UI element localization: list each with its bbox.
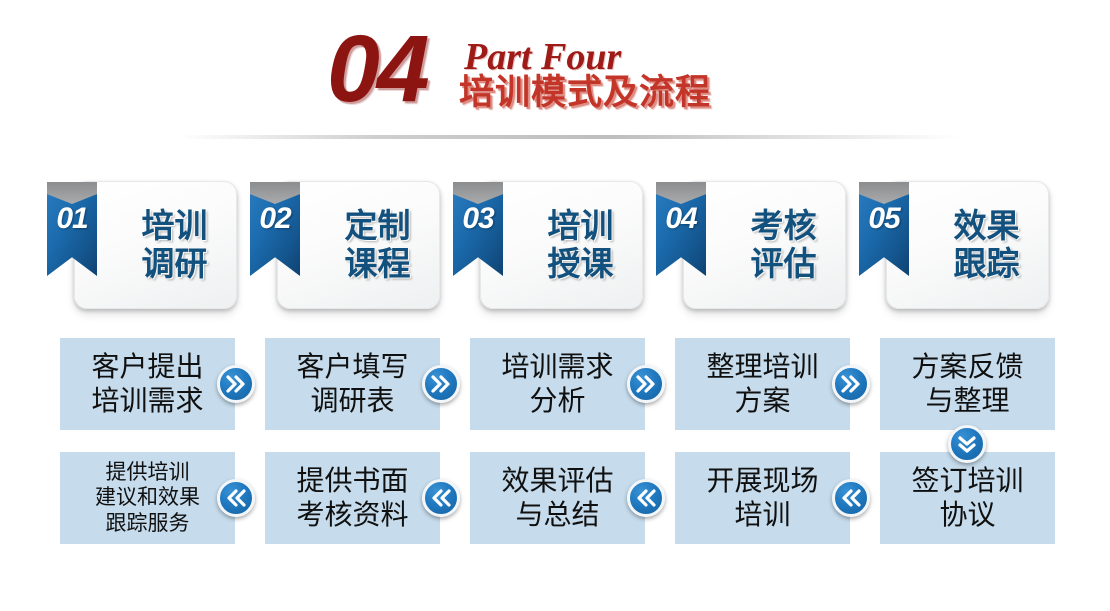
flow-box-bottom-5-label: 签订培训 协议 — [907, 464, 1027, 531]
step-title-02: 定制 课程 — [324, 207, 431, 283]
step-title-04: 考核 评估 — [730, 207, 837, 283]
flow-box-top-4-label: 整理培训 方案 — [702, 350, 822, 417]
flow-box-bottom-1[interactable]: 提供培训 建议和效果 跟踪服务 — [60, 452, 235, 544]
flow-box-bottom-1-label: 提供培训 建议和效果 跟踪服务 — [91, 460, 204, 536]
slide-header: 04 Part Four 培训模式及流程 — [0, 0, 1110, 150]
section-number: 04 — [327, 22, 427, 117]
page-title: 培训模式及流程 — [459, 76, 711, 111]
flow-box-bottom-4[interactable]: 开展现场 培训 — [675, 452, 850, 544]
ribbon-banner-icon: 01 — [47, 182, 97, 276]
double-chevron-right-icon[interactable] — [832, 365, 870, 403]
flow-box-top-4[interactable]: 整理培训 方案 — [675, 338, 850, 430]
flow-box-top-3[interactable]: 培训需求 分析 — [470, 338, 645, 430]
flow-box-top-1[interactable]: 客户提出 培训需求 — [60, 338, 235, 430]
step-number-04: 04 — [656, 204, 706, 234]
step-card-02[interactable]: 02 定制 课程 — [277, 181, 440, 309]
flow-box-top-1-label: 客户提出 培训需求 — [87, 350, 207, 417]
step-title-03: 培训 授课 — [527, 207, 634, 283]
flow-box-bottom-4-label: 开展现场 培训 — [702, 464, 822, 531]
step-title-01: 培训 调研 — [121, 207, 228, 283]
step-number-05: 05 — [859, 204, 909, 234]
step-card-row: 01 培训 调研 02 定制 课程 03 培训 授课 04 考核 评估 05 — [0, 171, 1110, 309]
flow-box-top-2[interactable]: 客户填写 调研表 — [265, 338, 440, 430]
step-number-03: 03 — [453, 204, 503, 234]
double-chevron-right-icon[interactable] — [217, 365, 255, 403]
slide-canvas: 04 Part Four 培训模式及流程 01 培训 调研 02 定制 课程 0… — [0, 0, 1110, 611]
double-chevron-left-icon[interactable] — [422, 479, 460, 517]
step-card-04[interactable]: 04 考核 评估 — [683, 181, 846, 309]
ribbon-banner-icon: 04 — [656, 182, 706, 276]
flow-box-bottom-2-label: 提供书面 考核资料 — [292, 464, 412, 531]
flow-row-top: 客户提出 培训需求 客户填写 调研表 培训需求 分析 整理培训 方案 方案反馈 … — [0, 338, 1110, 430]
flow-box-top-2-label: 客户填写 调研表 — [292, 350, 412, 417]
ribbon-banner-icon: 05 — [859, 182, 909, 276]
ribbon-banner-icon: 02 — [250, 182, 300, 276]
step-number-01: 01 — [47, 204, 97, 234]
step-card-01[interactable]: 01 培训 调研 — [74, 181, 237, 309]
flow-row-bottom: 提供培训 建议和效果 跟踪服务 提供书面 考核资料 效果评估 与总结 开展现场 … — [0, 452, 1110, 544]
double-chevron-down-icon[interactable] — [948, 425, 986, 463]
double-chevron-left-icon[interactable] — [627, 479, 665, 517]
double-chevron-left-icon[interactable] — [217, 479, 255, 517]
double-chevron-right-icon[interactable] — [627, 365, 665, 403]
flow-box-bottom-2[interactable]: 提供书面 考核资料 — [265, 452, 440, 544]
ribbon-banner-icon: 03 — [453, 182, 503, 276]
section-part-label: Part Four — [464, 38, 621, 76]
step-number-02: 02 — [250, 204, 300, 234]
step-card-03[interactable]: 03 培训 授课 — [480, 181, 643, 309]
flow-box-top-3-label: 培训需求 分析 — [497, 350, 617, 417]
flow-box-bottom-3-label: 效果评估 与总结 — [497, 464, 617, 531]
step-card-05[interactable]: 05 效果 跟踪 — [886, 181, 1049, 309]
flow-box-top-5[interactable]: 方案反馈 与整理 — [880, 338, 1055, 430]
header-divider — [180, 135, 960, 139]
flow-box-bottom-3[interactable]: 效果评估 与总结 — [470, 452, 645, 544]
step-title-05: 效果 跟踪 — [933, 207, 1040, 283]
flow-box-top-5-label: 方案反馈 与整理 — [907, 350, 1027, 417]
double-chevron-right-icon[interactable] — [422, 365, 460, 403]
double-chevron-left-icon[interactable] — [832, 479, 870, 517]
flow-box-bottom-5[interactable]: 签订培训 协议 — [880, 452, 1055, 544]
